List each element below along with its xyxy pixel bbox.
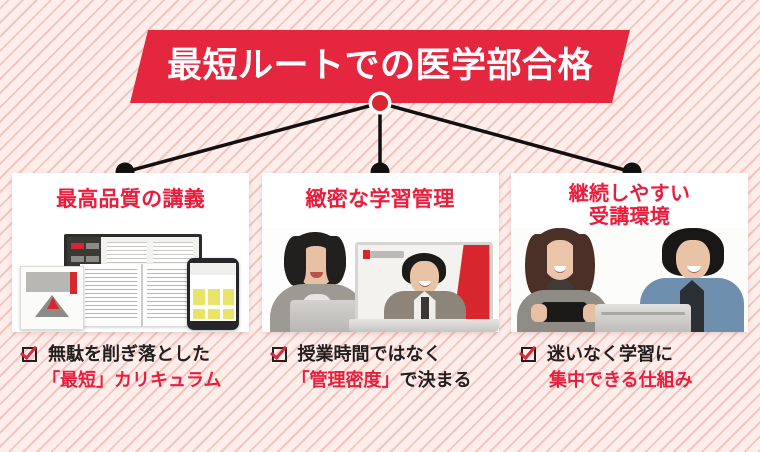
feature-cards: 最高品質の講義	[12, 173, 748, 332]
feature-card-2[interactable]: 緻密な学習管理	[262, 173, 499, 332]
smartphone-graphic	[187, 258, 239, 330]
smartphone-app-header	[190, 263, 236, 275]
feature-card-1[interactable]: 最高品質の講義	[12, 173, 249, 332]
caption-1-line-2-highlight: 「最短」カリキュラム	[42, 370, 221, 391]
card-3-title-line-1: 継続しやすい	[511, 182, 748, 205]
screen-logo	[364, 251, 404, 258]
open-textbook-graphic	[80, 264, 204, 326]
caption-1-line-1: 無駄を削ぎ落とした	[48, 344, 210, 365]
caption-1-line-1-row: 無駄を削ぎ落とした	[12, 344, 249, 365]
devices-textbook-photo	[12, 228, 249, 332]
card-1-title: 最高品質の講義	[12, 173, 249, 211]
card-3-title-line-2: 受講環境	[511, 205, 748, 228]
binder-logo-accent	[47, 297, 59, 309]
coach-face	[410, 261, 439, 295]
caption-3-line-1: 迷いなく学習に	[547, 344, 673, 365]
branch-line-left	[125, 103, 380, 172]
phone-user-hands	[531, 304, 599, 324]
textbook-spine	[141, 264, 143, 326]
caption-3: 迷いなく学習に 集中できる仕組み	[511, 344, 748, 391]
checkbox-checked-icon	[272, 345, 291, 364]
caption-2: 授業時間ではなく 「管理密度」で決まる	[262, 344, 499, 391]
binder-red-tab	[70, 272, 77, 294]
infographic-root: 最短ルートでの医学部合格 最高品質の講義	[0, 0, 760, 452]
student-hair-left	[284, 236, 306, 286]
caption-3-line-1-row: 迷いなく学習に	[511, 344, 748, 365]
card-2-title: 緻密な学習管理	[262, 173, 499, 211]
caption-1: 無駄を削ぎ落とした 「最短」カリキュラム	[12, 344, 249, 391]
card-3-title: 継続しやすい 受講環境	[511, 173, 748, 228]
online-coaching-photo	[262, 228, 499, 332]
caption-2-line-2: 「管理密度」で決まる	[262, 370, 499, 391]
checkbox-checked-icon	[521, 345, 540, 364]
phone-user-hair-right	[573, 234, 595, 296]
student-hair-right	[326, 236, 346, 284]
photo-backdrop	[511, 228, 748, 332]
caption-1-line-2: 「最短」カリキュラム	[12, 370, 249, 391]
branch-line-right	[380, 103, 632, 172]
caption-2-line-1-row: 授業時間ではなく	[262, 344, 499, 365]
binder-header-band	[26, 272, 72, 292]
caption-2-line-1: 授業時間ではなく	[298, 344, 442, 365]
caption-2-line-2-rest: で決まる	[400, 370, 472, 391]
anywhere-study-photo	[511, 228, 748, 332]
laptop-user-face	[676, 240, 710, 280]
binder-graphic	[20, 266, 84, 330]
phone-user-face	[543, 240, 577, 280]
coach-laptop-screen	[355, 242, 493, 324]
caption-row: 無駄を削ぎ落とした 「最短」カリキュラム 授業時間ではなく 「管理密度」で決まる	[12, 344, 748, 391]
smartphone-app-grid	[192, 289, 234, 319]
phone-user-hair-left	[525, 234, 547, 296]
photo-backdrop	[262, 228, 499, 332]
caption-2-line-2-highlight: 「管理密度」	[292, 370, 400, 391]
smartphone-screen	[190, 263, 236, 321]
caption-3-line-2-highlight: 集中できる仕組み	[549, 370, 693, 391]
checkbox-checked-icon	[22, 345, 41, 364]
page-title: 最短ルートでの医学部合格	[167, 49, 593, 84]
coach-laptop-keyboard	[349, 319, 499, 332]
open-laptop	[595, 304, 691, 332]
title-banner: 最短ルートでの医学部合格	[130, 30, 630, 103]
caption-3-line-2: 集中できる仕組み	[511, 370, 748, 391]
feature-card-3[interactable]: 継続しやすい 受講環境	[511, 173, 748, 332]
